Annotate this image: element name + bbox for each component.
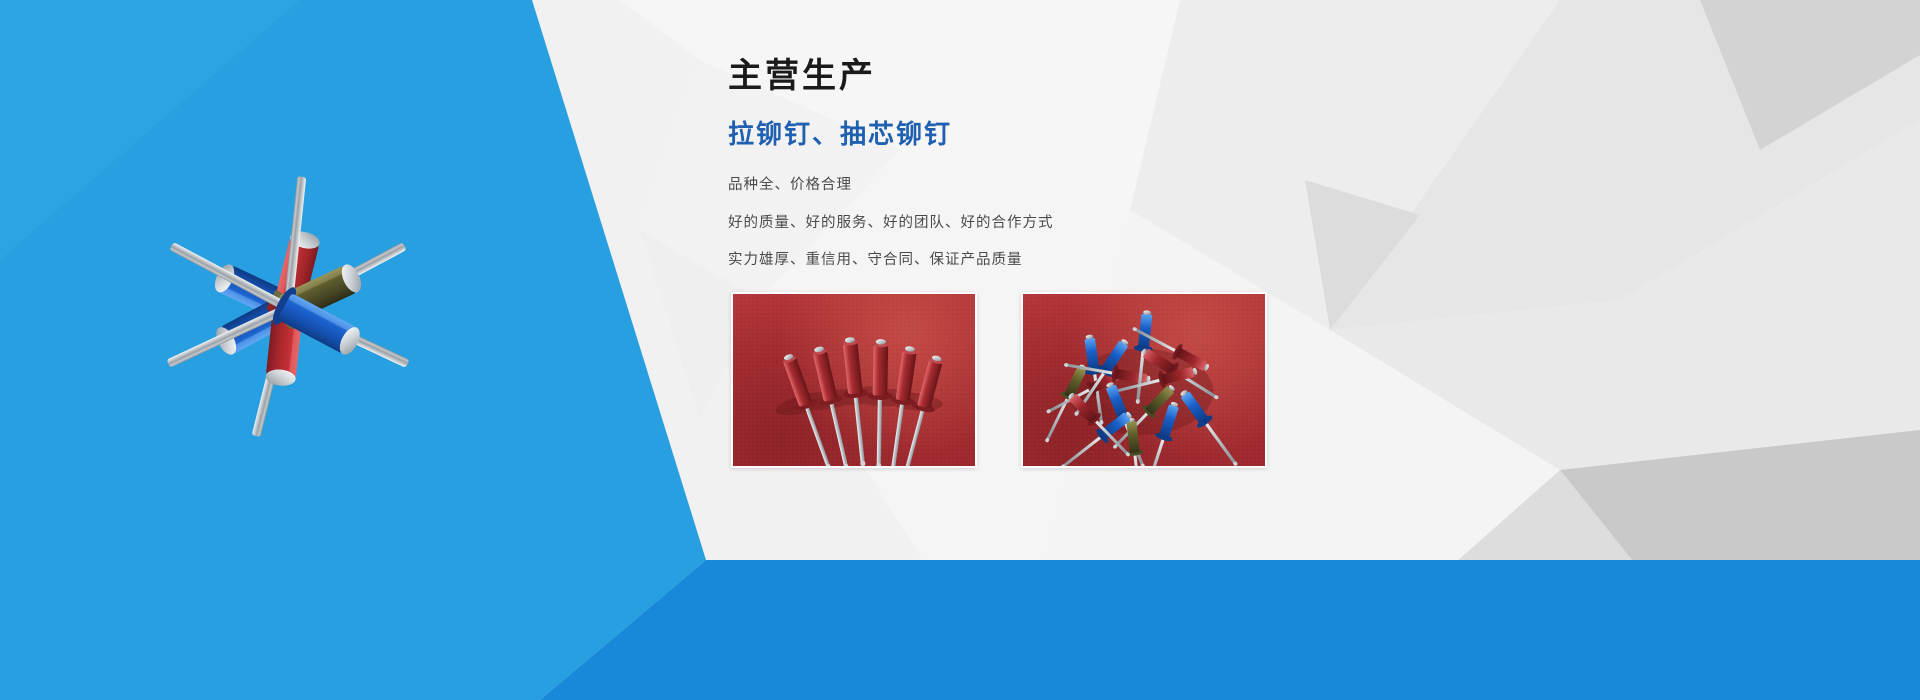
banner-text-column: 主营生产 拉铆钉、抽芯铆钉 品种全、价格合理 好的质量、好的服务、好的团队、好的… — [728, 56, 1428, 289]
feature-item-3: 实力雄厚、重信用、守合同、保证产品质量 — [728, 251, 1428, 271]
product-subtitle: 拉铆钉、抽芯铆钉 — [728, 119, 1428, 150]
blue-band-dark — [540, 560, 1920, 700]
feature-list: 品种全、价格合理 好的质量、好的服务、好的团队、好的合作方式 实力雄厚、重信用、… — [728, 176, 1428, 271]
product-photo-mixed-rivets-pile[interactable] — [1021, 292, 1267, 468]
product-photo-red-rivets-fan[interactable] — [731, 292, 977, 468]
mixed-rivets-illustration — [1023, 294, 1265, 466]
rivet-star-graphic — [60, 60, 520, 560]
red-rivets-illustration — [733, 294, 975, 466]
feature-item-2: 好的质量、好的服务、好的团队、好的合作方式 — [728, 214, 1428, 234]
page-title: 主营生产 — [728, 56, 1428, 97]
product-photo-row — [731, 292, 1267, 468]
feature-item-1: 品种全、价格合理 — [728, 176, 1428, 196]
promo-banner: 主营生产 拉铆钉、抽芯铆钉 品种全、价格合理 好的质量、好的服务、好的团队、好的… — [0, 0, 1920, 700]
